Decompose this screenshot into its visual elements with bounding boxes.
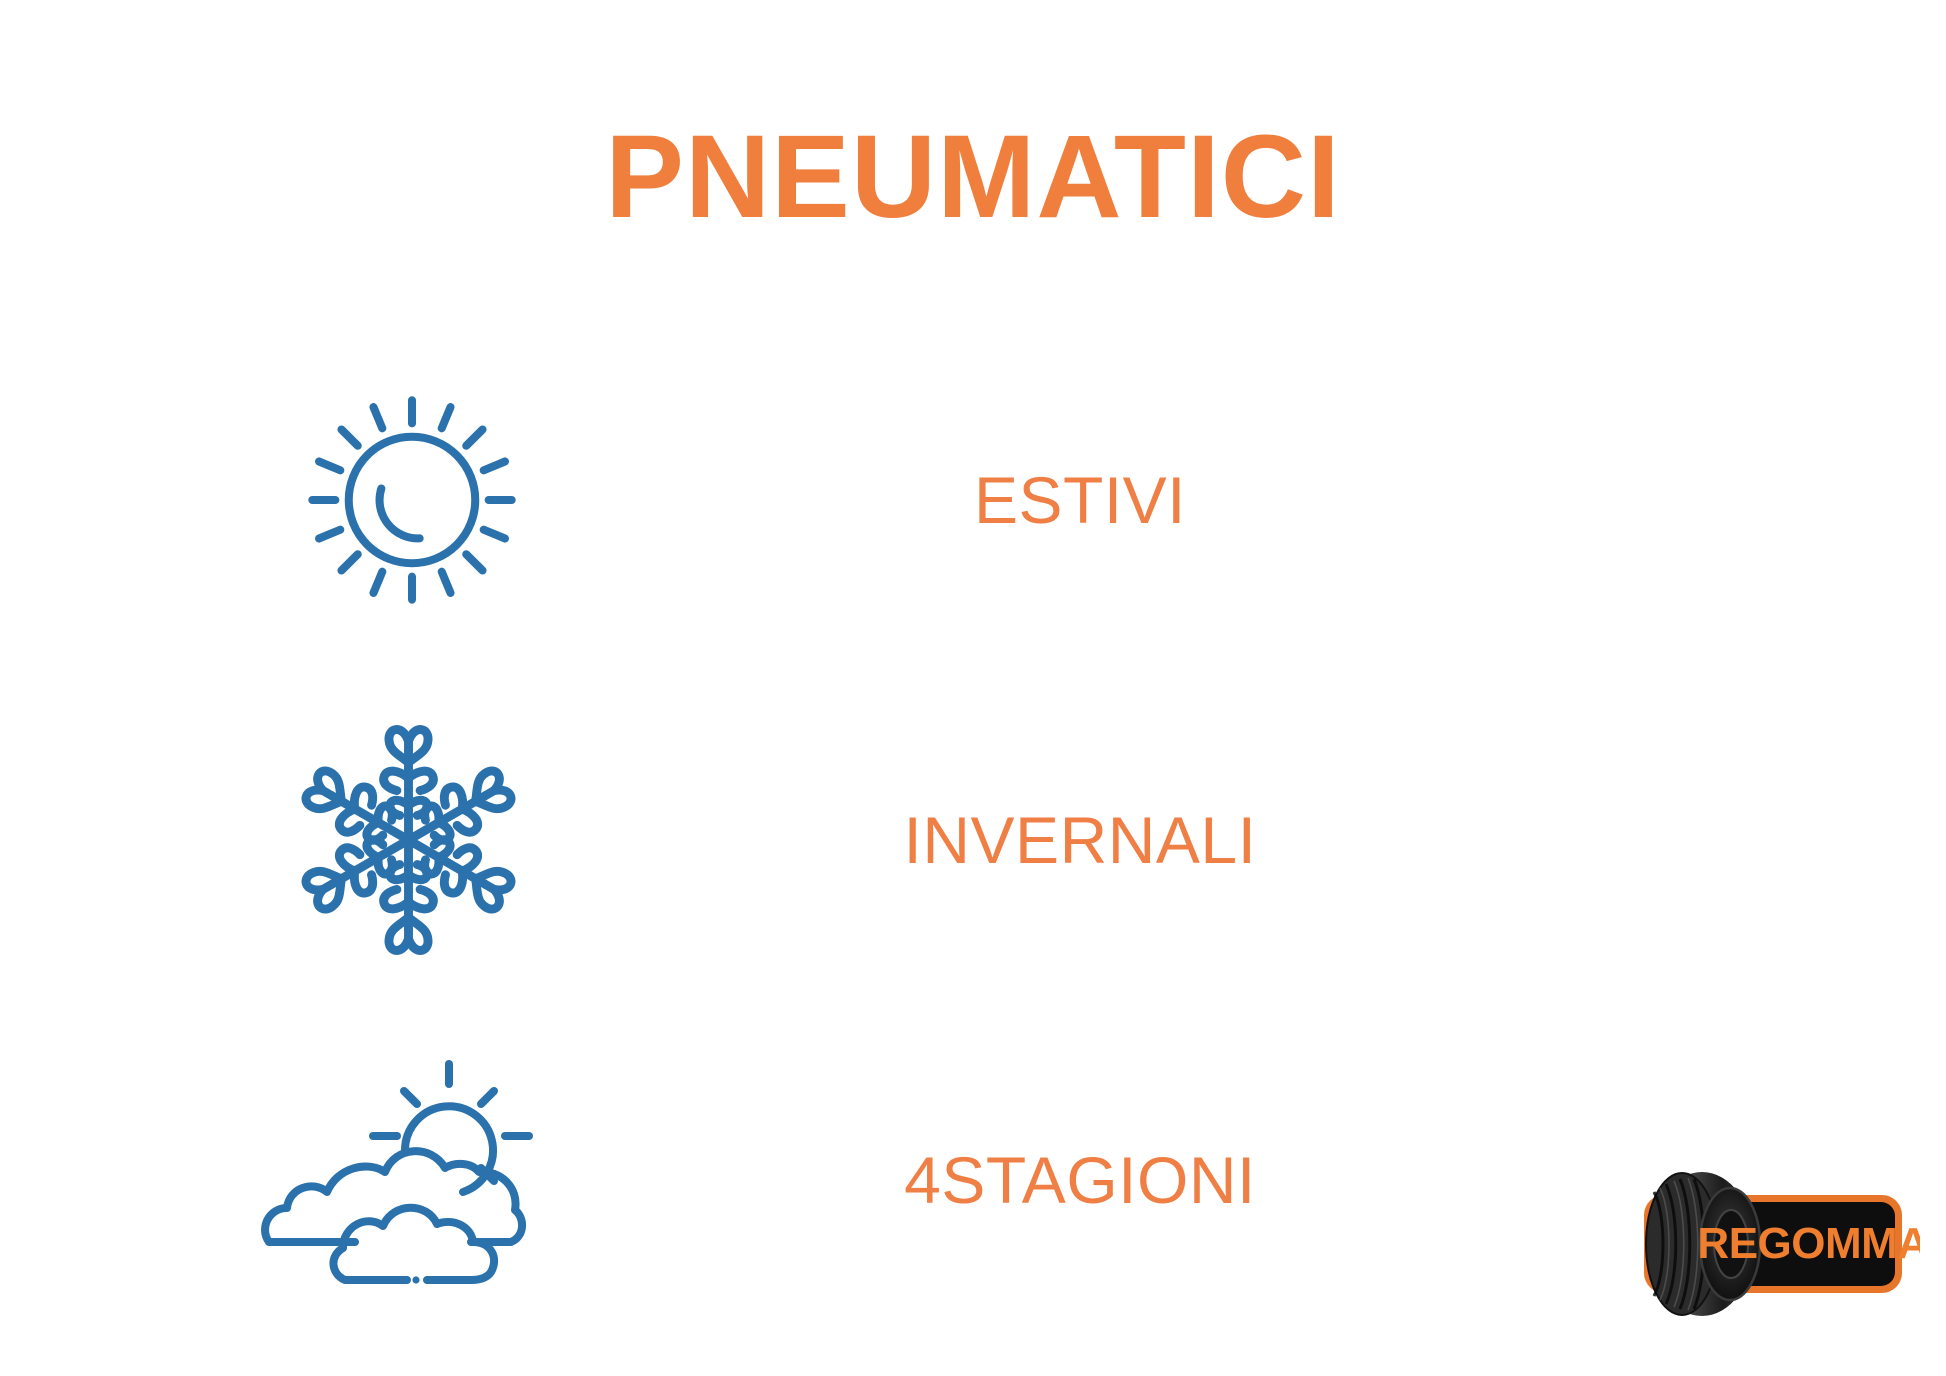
list-item-label: ESTIVI	[700, 462, 1460, 538]
page-title: PNEUMATICI	[0, 116, 1946, 240]
slide-root: PNEUMATICI	[0, 0, 1946, 1376]
sun-part	[373, 1064, 529, 1192]
regomma-logo[interactable]: REGOMMA	[1630, 1148, 1920, 1348]
list-item-invernali[interactable]: INVERNALI	[0, 670, 1946, 1010]
list-item-label: INVERNALI	[700, 802, 1460, 878]
sun-behind-clouds-icon	[238, 1030, 568, 1330]
list-item-label: 4STAGIONI	[700, 1142, 1460, 1218]
logo-brand-text: REGOMMA	[1697, 1219, 1920, 1268]
sun-icon	[262, 350, 562, 650]
list-item-estivi[interactable]: ESTIVI	[0, 330, 1946, 670]
snowflake-icon	[258, 690, 558, 990]
